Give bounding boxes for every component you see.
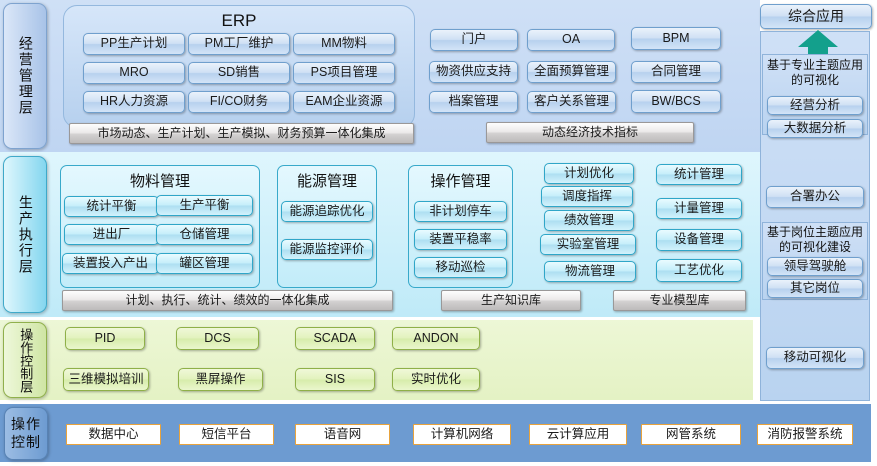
panel-title-energy-management: 能源管理 xyxy=(278,170,376,191)
erp-item-mm[interactable]: MM物料 xyxy=(293,33,395,55)
control-item-scada[interactable]: SCADA xyxy=(295,327,375,350)
app-item-budget[interactable]: 全面预算管理 xyxy=(527,61,616,83)
prod-item-statistics-management[interactable]: 统计管理 xyxy=(656,164,742,185)
sidebar-item-label: 生产执行层 xyxy=(17,195,33,275)
energy-item-tracking-optimization[interactable]: 能源追踪优化 xyxy=(281,201,373,222)
prod-item-equipment-management[interactable]: 设备管理 xyxy=(656,229,742,251)
app-item-supply[interactable]: 物资供应支持 xyxy=(429,61,518,83)
material-item-stat-balance[interactable]: 统计平衡 xyxy=(64,196,159,217)
sidebar-item-label-line1: 操作 xyxy=(11,416,41,432)
control-item-pid[interactable]: PID xyxy=(65,327,145,350)
prod-item-metering-management[interactable]: 计量管理 xyxy=(656,198,742,219)
material-item-unit-input-output[interactable]: 装置投入产出 xyxy=(62,253,159,274)
prod-item-lab-management[interactable]: 实验室管理 xyxy=(540,234,636,255)
sidebar-section-caption: 基于专业主题应用 的可视化 xyxy=(763,58,867,87)
app-item-oa[interactable]: OA xyxy=(527,29,615,51)
caption-line-1: 基于岗位主题应用 xyxy=(767,225,863,239)
panel-title-material-management: 物料管理 xyxy=(61,170,259,191)
arrow-up-icon xyxy=(797,29,839,57)
erp-item-pp[interactable]: PP生产计划 xyxy=(83,33,185,55)
app-item-bpm[interactable]: BPM xyxy=(631,27,721,50)
infra-item-data-center[interactable]: 数据中心 xyxy=(66,424,161,445)
control-item-sis[interactable]: SIS xyxy=(295,368,375,391)
infra-item-voice-network[interactable]: 语音网 xyxy=(295,424,390,445)
infra-item-fire-alarm[interactable]: 消防报警系统 xyxy=(757,424,853,445)
sidebar-item-label: 操作 控制 xyxy=(11,416,41,450)
sidebar-item-business-analysis[interactable]: 经营分析 xyxy=(767,96,863,115)
sidebar-item-business-layer[interactable]: 经营管理层 xyxy=(3,3,47,149)
material-item-tank-area[interactable]: 罐区管理 xyxy=(156,253,253,274)
operation-item-unit-stability[interactable]: 装置平稳率 xyxy=(414,229,507,250)
sidebar-item-mobile-visualization[interactable]: 移动可视化 xyxy=(766,347,864,369)
operation-item-mobile-inspection[interactable]: 移动巡检 xyxy=(414,257,507,278)
prod-item-plan-optimization[interactable]: 计划优化 xyxy=(544,163,634,184)
sidebar-item-label: 经营管理层 xyxy=(17,36,33,116)
control-item-realtime-optimization[interactable]: 实时优化 xyxy=(392,368,480,391)
app-item-archive[interactable]: 档案管理 xyxy=(429,91,518,113)
erp-item-fico[interactable]: FI/CO财务 xyxy=(188,91,290,113)
control-item-3d-training[interactable]: 三维模拟培训 xyxy=(63,368,149,391)
app-item-contract[interactable]: 合同管理 xyxy=(631,61,721,83)
sidebar-item-other-positions[interactable]: 其它岗位 xyxy=(767,279,863,298)
prod-item-performance-management[interactable]: 绩效管理 xyxy=(544,210,634,231)
infra-item-cloud-computing[interactable]: 云计算应用 xyxy=(529,424,627,445)
sidebar-item-joint-office[interactable]: 合署办公 xyxy=(766,186,864,208)
sidebar-item-bigdata-analysis[interactable]: 大数据分析 xyxy=(767,119,863,138)
sidebar-comprehensive-application-button[interactable]: 综合应用 xyxy=(760,4,872,29)
erp-item-sd[interactable]: SD销售 xyxy=(188,62,290,84)
control-item-dcs[interactable]: DCS xyxy=(176,327,259,350)
sidebar-item-label: 操作控制层 xyxy=(18,328,33,393)
panel-title-erp: ERP xyxy=(64,11,414,31)
integration-bar-business[interactable]: 市场动态、生产计划、生产模拟、财务预算一体化集成 xyxy=(69,123,414,144)
material-item-prod-balance[interactable]: 生产平衡 xyxy=(156,195,253,216)
sidebar-section-caption: 基于岗位主题应用 的可视化建设 xyxy=(763,225,867,254)
app-item-bwbcs[interactable]: BW/BCS xyxy=(631,90,721,113)
caption-line-2: 的可视化 xyxy=(791,73,839,87)
erp-item-pm[interactable]: PM工厂维护 xyxy=(188,33,290,55)
control-item-andon[interactable]: ANDON xyxy=(392,327,480,350)
erp-item-hr[interactable]: HR人力资源 xyxy=(83,91,185,113)
integration-bar-production-knowledge[interactable]: 生产知识库 xyxy=(441,290,581,311)
integration-bar-economic-indicator[interactable]: 动态经济技术指标 xyxy=(486,122,694,143)
material-item-warehouse[interactable]: 仓储管理 xyxy=(156,224,253,245)
sidebar-item-production-layer[interactable]: 生产执行层 xyxy=(3,156,47,313)
operation-item-unplanned-shutdown[interactable]: 非计划停车 xyxy=(414,201,507,222)
prod-item-dispatch-command[interactable]: 调度指挥 xyxy=(541,186,633,207)
caption-line-1: 基于专业主题应用 xyxy=(767,58,863,72)
erp-item-eam[interactable]: EAM企业资源 xyxy=(293,91,395,113)
integration-bar-production[interactable]: 计划、执行、统计、绩效的一体化集成 xyxy=(62,290,393,311)
prod-item-process-optimization[interactable]: 工艺优化 xyxy=(656,259,742,282)
caption-line-2: 的可视化建设 xyxy=(779,240,851,254)
app-item-crm[interactable]: 客户关系管理 xyxy=(527,91,616,113)
sidebar-item-label-line2: 控制 xyxy=(11,434,41,450)
integration-bar-professional-model[interactable]: 专业模型库 xyxy=(613,290,746,311)
infra-item-sms-platform[interactable]: 短信平台 xyxy=(179,424,274,445)
infra-item-network-management[interactable]: 网管系统 xyxy=(641,424,741,445)
panel-title-operation-management: 操作管理 xyxy=(409,170,512,191)
control-item-black-screen-operation[interactable]: 黑屏操作 xyxy=(178,368,263,391)
sidebar-item-operation-control[interactable]: 操作 控制 xyxy=(4,407,48,460)
material-item-in-out-plant[interactable]: 进出厂 xyxy=(64,224,159,245)
panel-energy-management: 能源管理 xyxy=(277,165,377,288)
erp-item-ps[interactable]: PS项目管理 xyxy=(293,62,395,84)
app-item-portal[interactable]: 门户 xyxy=(430,29,518,51)
sidebar-item-operation-control-layer[interactable]: 操作控制层 xyxy=(3,322,47,398)
prod-item-logistics-management[interactable]: 物流管理 xyxy=(544,261,636,282)
sidebar-item-leader-cockpit[interactable]: 领导驾驶舱 xyxy=(767,257,863,276)
erp-item-mro[interactable]: MRO xyxy=(83,62,185,84)
infra-item-computer-network[interactable]: 计算机网络 xyxy=(413,424,511,445)
architecture-diagram: 经营管理层 ERP PP生产计划 PM工厂维护 MM物料 MRO SD销售 PS… xyxy=(0,0,877,466)
energy-item-monitor-evaluation[interactable]: 能源监控评价 xyxy=(281,239,373,260)
